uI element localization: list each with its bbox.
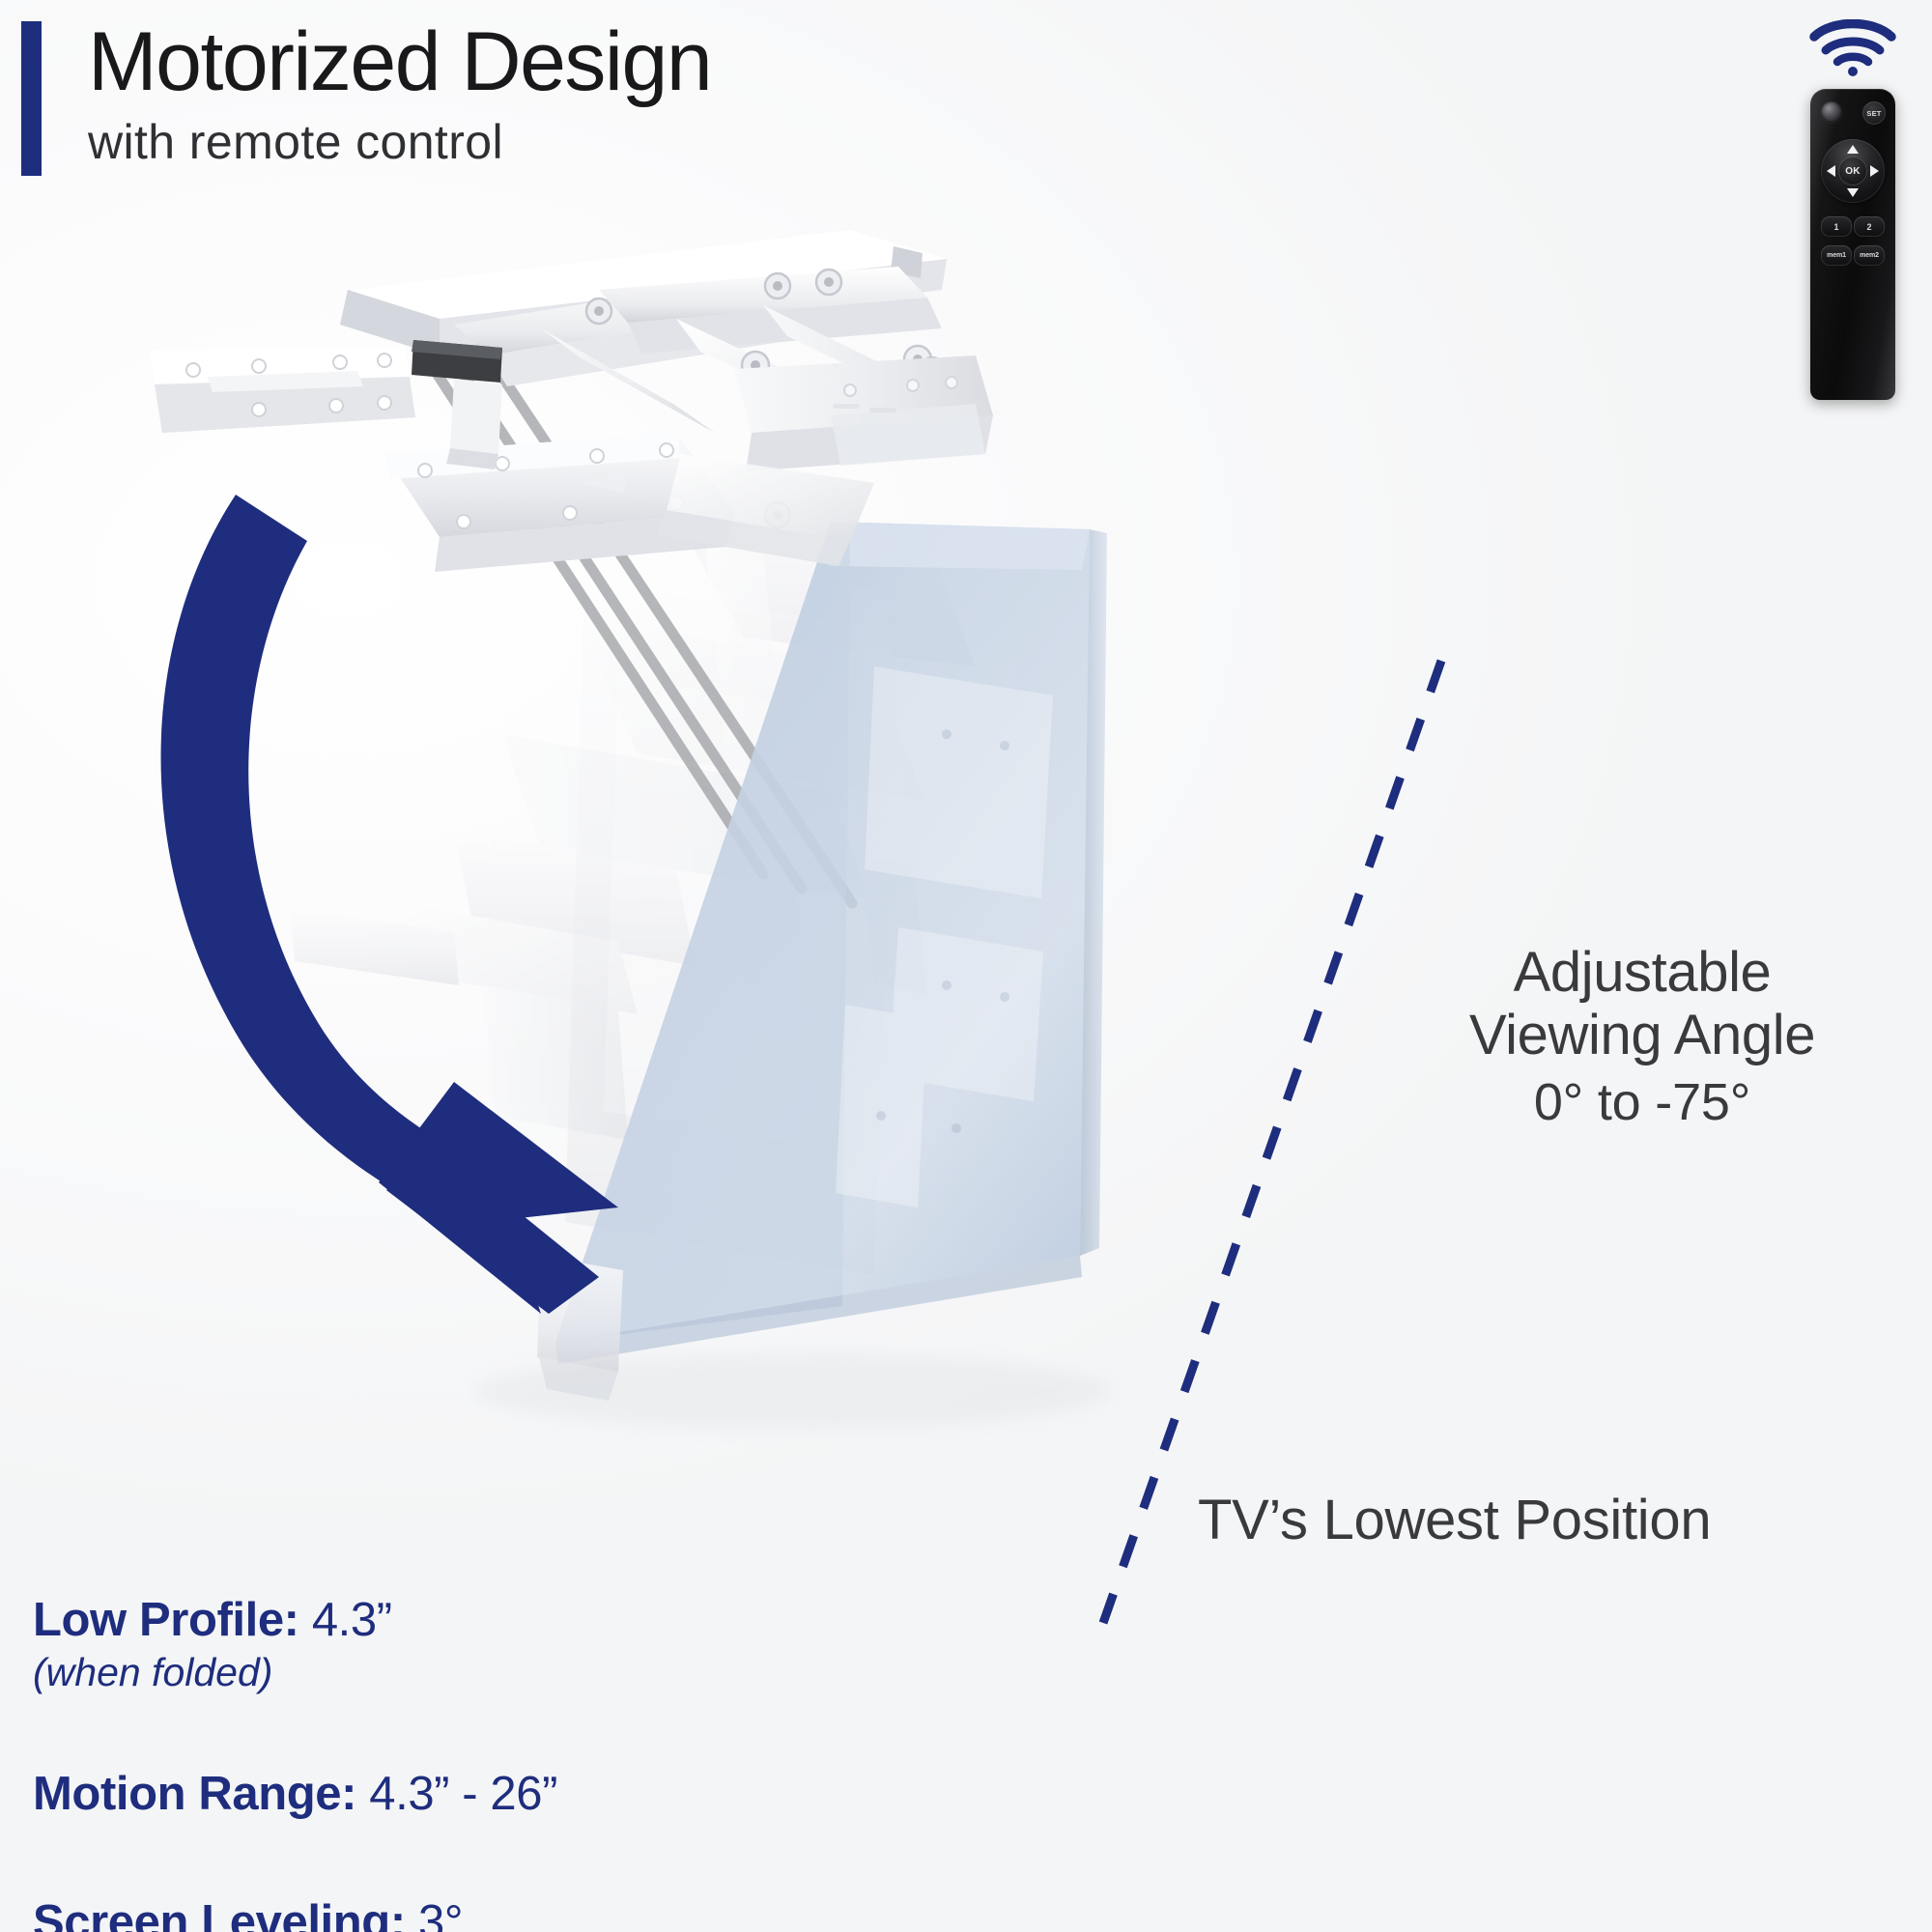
wifi-icon xyxy=(1806,19,1899,77)
header-text-group: Motorized Design with remote control xyxy=(88,21,711,169)
remote-mem2-button[interactable]: mem2 xyxy=(1854,245,1885,266)
right-arrow-icon[interactable] xyxy=(1870,165,1879,177)
spec-screen-leveling-value: 3° xyxy=(418,1896,463,1932)
header: Motorized Design with remote control xyxy=(21,21,711,176)
spec-list: Low Profile: 4.3” (when folded) Motion R… xyxy=(33,1594,557,1932)
viewing-angle-line2: Viewing Angle xyxy=(1372,1005,1913,1067)
remote-preset-2-button[interactable]: 2 xyxy=(1854,216,1885,237)
viewing-angle-value: 0° to -75° xyxy=(1372,1071,1913,1134)
spec-low-profile-value: 4.3” xyxy=(312,1594,392,1646)
left-arrow-icon[interactable] xyxy=(1827,165,1835,177)
spec-screen-leveling-label: Screen Leveling: xyxy=(33,1896,406,1932)
spec-motion-range-main: Motion Range: 4.3” - 26” xyxy=(33,1768,557,1821)
down-arrow-icon[interactable] xyxy=(1847,188,1859,197)
spec-motion-range: Motion Range: 4.3” - 26” xyxy=(33,1768,557,1821)
spec-low-profile-main: Low Profile: 4.3” xyxy=(33,1594,557,1647)
spec-motion-range-value: 4.3” - 26” xyxy=(369,1768,557,1820)
viewing-angle-line1: Adjustable xyxy=(1372,942,1913,1005)
viewing-angle-callout: Adjustable Viewing Angle 0° to -75° xyxy=(1372,942,1913,1134)
remote-memory-row: mem1 mem2 xyxy=(1821,245,1885,266)
remote-control: SET OK 1 2 mem1 mem2 xyxy=(1785,14,1920,400)
page-title: Motorized Design xyxy=(88,21,711,102)
remote-power-button[interactable] xyxy=(1821,101,1842,123)
remote-ok-button[interactable]: OK xyxy=(1838,156,1867,185)
up-arrow-icon[interactable] xyxy=(1847,145,1859,154)
dashed-angle-guide xyxy=(1103,661,1441,1623)
remote-set-button[interactable]: SET xyxy=(1862,101,1886,125)
spec-low-profile: Low Profile: 4.3” (when folded) xyxy=(33,1594,557,1696)
remote-preset-1-button[interactable]: 1 xyxy=(1821,216,1852,237)
infographic-canvas: Motorized Design with remote control Adj… xyxy=(0,0,1932,1932)
spec-low-profile-label: Low Profile: xyxy=(33,1594,299,1646)
accent-bar xyxy=(21,21,42,176)
remote-body: SET OK 1 2 mem1 mem2 xyxy=(1810,89,1895,400)
spec-screen-leveling-main: Screen Leveling: 3° xyxy=(33,1896,557,1932)
page-subtitle: with remote control xyxy=(88,116,711,169)
spec-low-profile-note: (when folded) xyxy=(33,1649,557,1696)
tv-lowest-position-label: TV’s Lowest Position xyxy=(1198,1488,1913,1552)
ceiling-mount-assembly xyxy=(150,230,993,572)
spec-screen-leveling: Screen Leveling: 3° xyxy=(33,1896,557,1932)
remote-dpad[interactable]: OK xyxy=(1821,139,1885,203)
spec-motion-range-label: Motion Range: xyxy=(33,1768,356,1820)
remote-preset-row: 1 2 xyxy=(1821,216,1885,237)
remote-mem1-button[interactable]: mem1 xyxy=(1821,245,1852,266)
